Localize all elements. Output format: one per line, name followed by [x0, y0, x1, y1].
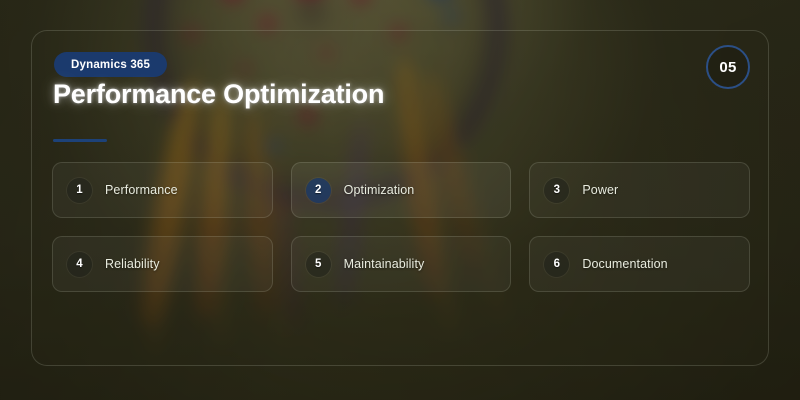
slide-number-badge: 05: [706, 45, 750, 89]
topic-card-number: 2: [306, 178, 331, 203]
topic-card-number: 3: [544, 178, 569, 203]
title-accent-rule: [53, 139, 107, 142]
topic-card-number: 4: [67, 252, 92, 277]
product-badge: Dynamics 365: [54, 52, 167, 77]
topic-card[interactable]: 1Performance: [52, 162, 273, 218]
topic-card-grid: 1Performance2Optimization3Power4Reliabil…: [52, 162, 750, 292]
slide-number-value: 05: [719, 59, 736, 76]
topic-card-label: Performance: [105, 183, 178, 197]
topic-card-label: Maintainability: [344, 257, 425, 271]
topic-card[interactable]: 3Power: [529, 162, 750, 218]
topic-card-number: 1: [67, 178, 92, 203]
topic-card[interactable]: 2Optimization: [291, 162, 512, 218]
topic-card-label: Documentation: [582, 257, 667, 271]
content-panel: Dynamics 365 Performance Optimization 05…: [31, 30, 769, 366]
topic-card-label: Reliability: [105, 257, 160, 271]
page-title: Performance Optimization: [53, 79, 384, 110]
slide-root: Dynamics 365 Performance Optimization 05…: [0, 0, 800, 400]
topic-card-label: Optimization: [344, 183, 415, 197]
topic-card[interactable]: 5Maintainability: [291, 236, 512, 292]
product-badge-label: Dynamics 365: [71, 59, 150, 71]
topic-card-number: 6: [544, 252, 569, 277]
topic-card-label: Power: [582, 183, 618, 197]
topic-card[interactable]: 6Documentation: [529, 236, 750, 292]
topic-card[interactable]: 4Reliability: [52, 236, 273, 292]
topic-card-number: 5: [306, 252, 331, 277]
